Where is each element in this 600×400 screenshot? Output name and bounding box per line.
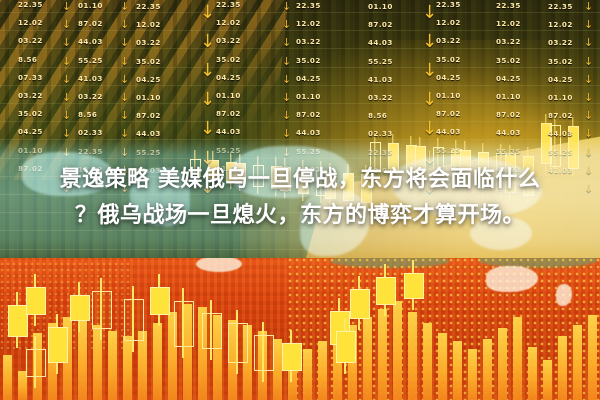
quote-value: 12.02 <box>436 14 494 32</box>
candle-body <box>282 343 302 371</box>
headline-line-1: 景逸策略 美媒俄乌一旦停战，东方将会面临什么 <box>8 162 592 198</box>
candle-body <box>26 349 46 377</box>
candle-body <box>150 287 170 315</box>
quote-value: 03.22 <box>216 32 274 50</box>
volume-bar <box>588 315 597 400</box>
arrow-down-icon: ↓ <box>120 71 136 89</box>
candlestick <box>92 278 110 340</box>
quote-value: 35.02 <box>436 51 494 69</box>
volume-bar <box>513 317 522 400</box>
arrow-down-icon: ↓ <box>422 56 438 85</box>
arrow-down-icon: ↓ <box>62 34 78 52</box>
headline-line-2: ？俄乌战场一旦熄火，东方的博弈才算开场。 <box>8 198 592 234</box>
arrow-down-icon: ↓ <box>282 16 298 34</box>
arrow-down-icon: ↓ <box>282 71 298 89</box>
quote-value: 22.35 <box>436 0 494 14</box>
quote-value: 87.02 <box>496 106 554 124</box>
quote-value: 01.10 <box>216 87 274 105</box>
candle-body <box>404 273 424 299</box>
arrow-down-icon: ↓ <box>282 89 298 107</box>
arrow-down-icon: ↓ <box>282 34 298 52</box>
quote-value: 04.25 <box>136 71 194 89</box>
quote-value: 12.02 <box>136 16 194 34</box>
volume-bar <box>153 323 162 400</box>
volume-bar <box>318 341 327 400</box>
quote-value: 12.02 <box>296 15 354 33</box>
arrow-down-icon: ↓ <box>62 16 78 34</box>
volume-bar <box>393 301 402 400</box>
arrow-down-icon: ↓ <box>282 53 298 71</box>
arrow-down-icon: ↓ <box>120 107 136 125</box>
quote-value: 01.10 <box>368 0 426 16</box>
volume-bar <box>543 360 552 400</box>
candle-body <box>124 299 144 341</box>
quote-value: 35.02 <box>296 52 354 70</box>
chart-panel-bottom <box>0 258 600 400</box>
quote-value: 04.25 <box>296 70 354 88</box>
quote-value: 04.25 <box>496 70 554 88</box>
quote-value: 01.10 <box>296 88 354 106</box>
quote-value: 41.03 <box>368 71 426 89</box>
quote-value: 87.02 <box>436 105 494 123</box>
quote-value: 8.56 <box>368 107 426 125</box>
volume-bar <box>423 323 432 400</box>
quote-value: 55.25 <box>368 53 426 71</box>
candle-body <box>174 301 194 347</box>
quote-value: 87.02 <box>216 105 274 123</box>
volume-bar <box>498 328 507 400</box>
candle-body <box>202 313 222 349</box>
arrow-down-icon: ↓ <box>422 27 438 56</box>
candle-body <box>70 295 90 321</box>
arrow-down-icon: ↓ <box>120 0 136 16</box>
quote-value: 04.25 <box>216 69 274 87</box>
arrow-down-icon: ↓ <box>62 71 78 89</box>
arrow-down-icon: ↓ <box>584 71 600 89</box>
volume-bar <box>528 347 537 400</box>
volume-bar <box>78 320 87 400</box>
candlestick <box>254 322 272 382</box>
quote-value: 01.10 <box>136 89 194 107</box>
candlestick <box>202 300 220 360</box>
quote-value: 35.02 <box>216 51 274 69</box>
arrow-down-icon: ↓ <box>584 107 600 125</box>
candle-body <box>254 335 274 371</box>
candlestick <box>124 286 142 352</box>
volume-bar <box>408 312 417 400</box>
volume-bar <box>558 336 567 400</box>
arrow-down-icon: ↓ <box>120 34 136 52</box>
candle-body <box>26 287 46 315</box>
candle-body <box>336 331 356 363</box>
arrow-down-icon: ↓ <box>62 89 78 107</box>
candlestick <box>174 288 192 358</box>
arrow-down-icon: ↓ <box>422 85 438 114</box>
arrow-down-icon: ↓ <box>200 27 216 56</box>
arrow-down-icon: ↓ <box>584 89 600 107</box>
volume-bar <box>273 339 282 400</box>
candlestick <box>150 274 168 326</box>
quote-value: 22.35 <box>496 0 554 15</box>
volume-bar <box>108 331 117 400</box>
arrow-down-icon: ↓ <box>584 0 600 16</box>
candlestick <box>336 318 354 374</box>
headline-text: 景逸策略 美媒俄乌一旦停战，东方将会面临什么 ？俄乌战场一旦熄火，东方的博弈才算… <box>0 162 600 234</box>
quote-value: 44.03 <box>368 34 426 52</box>
arrow-down-icon: ↓ <box>200 85 216 114</box>
arrow-down-icon: ↓ <box>282 107 298 125</box>
quote-value: 03.22 <box>368 89 426 107</box>
candlestick <box>376 264 394 316</box>
quote-value: 87.02 <box>296 106 354 124</box>
arrow-down-icon: ↓ <box>584 53 600 71</box>
candlestick <box>48 314 66 374</box>
candle-body <box>376 277 396 305</box>
candle-body <box>228 323 248 363</box>
candlestick <box>282 330 300 382</box>
volume-bar <box>453 341 462 400</box>
arrow-down-icon: ↓ <box>200 56 216 85</box>
arrow-down-icon: ↓ <box>120 89 136 107</box>
candlestick <box>228 310 246 374</box>
quote-value: 03.22 <box>436 32 494 50</box>
quote-value: 03.22 <box>136 34 194 52</box>
arrow-down-icon: ↓ <box>584 34 600 52</box>
volume-bar <box>468 349 477 400</box>
quote-value: 22.35 <box>216 0 274 14</box>
arrow-down-icon: ↓ <box>62 107 78 125</box>
candle-body <box>350 289 370 319</box>
arrow-down-icon: ↓ <box>282 0 298 16</box>
arrow-down-icon: ↓ <box>120 53 136 71</box>
quote-value: 12.02 <box>216 14 274 32</box>
quote-value: 22.35 <box>296 0 354 15</box>
banner-image: 22.3512.0203.228.5607.3303.2235.0204.250… <box>0 0 600 400</box>
volume-bar <box>303 349 312 400</box>
arrow-down-icon: ↓ <box>120 16 136 34</box>
arrow-down-icon: ↓ <box>422 0 438 27</box>
candlestick <box>26 274 44 326</box>
quote-value: 04.25 <box>436 69 494 87</box>
candle-body <box>92 291 112 329</box>
quote-value: 35.02 <box>496 52 554 70</box>
candlestick <box>8 292 26 348</box>
candlestick <box>404 260 422 310</box>
arrow-down-icon: ↓ <box>62 53 78 71</box>
quote-value: 35.02 <box>136 53 194 71</box>
candle-body <box>8 305 28 337</box>
volume-bar <box>378 309 387 400</box>
arrow-down-icon: ↓ <box>62 0 78 16</box>
quote-value: 01.10 <box>436 87 494 105</box>
arrow-down-icon: ↓ <box>200 0 216 27</box>
arrow-down-icon: ↓ <box>584 16 600 34</box>
quote-value: 01.10 <box>496 88 554 106</box>
quote-value: 87.02 <box>136 107 194 125</box>
quote-value: 03.22 <box>496 33 554 51</box>
quote-value: 22.35 <box>136 0 194 16</box>
volume-bar <box>573 325 582 400</box>
candlestick <box>26 336 44 388</box>
volume-bar <box>3 355 12 400</box>
candle-body <box>48 327 68 363</box>
quote-value: 03.22 <box>296 33 354 51</box>
volume-bar <box>438 333 447 400</box>
candlestick <box>70 282 88 332</box>
quote-value: 87.02 <box>368 16 426 34</box>
quote-value: 12.02 <box>496 15 554 33</box>
volume-bar <box>483 339 492 400</box>
